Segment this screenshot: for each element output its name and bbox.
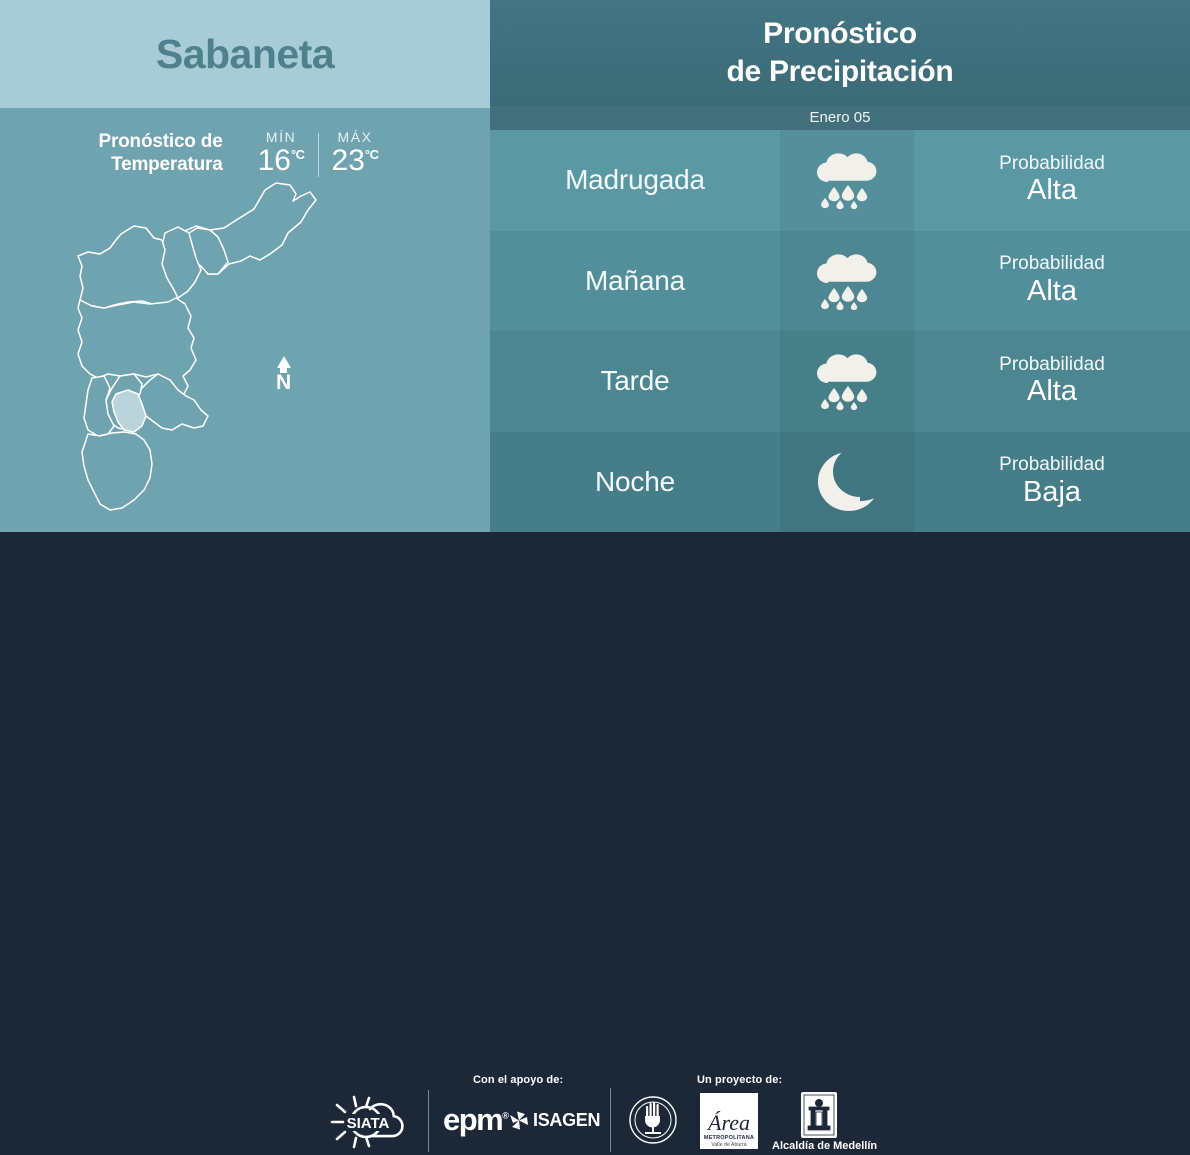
isagen-wordmark: ISAGEN bbox=[533, 1110, 600, 1131]
period-label: Madrugada bbox=[565, 164, 705, 196]
north-label: N bbox=[276, 372, 291, 393]
isagen-logo: ISAGEN bbox=[508, 1110, 600, 1131]
footer-divider-2 bbox=[610, 1088, 611, 1152]
weather-forecast-infographic: Sabaneta Pronóstico de Temperatura MÍN 1… bbox=[0, 0, 1190, 620]
rain-cloud-icon bbox=[808, 146, 886, 214]
temperature-summary: Pronóstico de Temperatura MÍN 16°C MÁX 2… bbox=[0, 122, 490, 184]
min-label: MÍN bbox=[258, 129, 305, 145]
footer: Con el apoyo de: Un proyecto de: SIATA bbox=[0, 532, 1190, 620]
temperature-title-line2: Temperatura bbox=[98, 153, 222, 176]
city-name-band: Sabaneta bbox=[0, 0, 490, 108]
probability-value: Alta bbox=[1027, 275, 1077, 307]
footer-divider-1 bbox=[428, 1090, 429, 1152]
probability-value: Baja bbox=[1023, 476, 1081, 508]
table-row: Madrugada bbox=[490, 130, 1190, 231]
temperature-title-line1: Pronóstico de bbox=[98, 130, 222, 153]
probability-label: Probabilidad bbox=[999, 154, 1105, 175]
period-cell: Noche bbox=[490, 432, 780, 533]
period-label: Tarde bbox=[600, 365, 669, 397]
probability-value: Alta bbox=[1027, 375, 1077, 407]
table-row: Mañana bbox=[490, 231, 1190, 332]
probability-value: Alta bbox=[1027, 174, 1077, 206]
forecast-rows: Madrugada bbox=[490, 130, 1190, 532]
map-region-caldas bbox=[82, 432, 152, 510]
map-region-envigado bbox=[134, 374, 208, 430]
period-cell: Madrugada bbox=[490, 130, 780, 231]
weather-icon-cell bbox=[780, 432, 914, 533]
weather-icon-cell bbox=[780, 130, 914, 231]
alcaldia-shield-icon bbox=[801, 1092, 837, 1138]
period-cell: Mañana bbox=[490, 231, 780, 332]
probability-label: Probabilidad bbox=[999, 254, 1105, 275]
precipitation-header: Pronóstico de Precipitación bbox=[490, 0, 1190, 106]
epm-logo: epm® bbox=[443, 1104, 507, 1135]
precipitation-title-line2: de Precipitación bbox=[727, 53, 954, 91]
support-caption: Con el apoyo de: bbox=[473, 1074, 563, 1086]
rain-cloud-icon bbox=[808, 347, 886, 415]
max-label: MÁX bbox=[332, 129, 379, 145]
page-title: Sabaneta bbox=[156, 31, 334, 78]
area-script-wordmark: Área bbox=[708, 1112, 750, 1134]
max-value: 23°C bbox=[332, 145, 379, 177]
alcaldia-crest-icon bbox=[801, 1092, 837, 1138]
valle-de-aburra-map-svg bbox=[58, 178, 328, 523]
epm-wordmark: epm® bbox=[443, 1104, 507, 1135]
area-metropolitana-logo: Área METROPOLITANA Valle de Aburrá bbox=[700, 1093, 758, 1149]
temperature-values: MÍN 16°C MÁX 23°C bbox=[245, 129, 392, 177]
probability-cell: Probabilidad Alta bbox=[914, 231, 1190, 332]
table-row: Tarde bbox=[490, 331, 1190, 432]
universidad-nacional-seal-icon bbox=[628, 1094, 678, 1146]
siata-logo: SIATA bbox=[330, 1094, 426, 1155]
isagen-pinwheel-icon bbox=[508, 1111, 530, 1130]
area-metropolitana-line: METROPOLITANA bbox=[704, 1135, 754, 1142]
crescent-moon-icon bbox=[816, 449, 878, 515]
municipality-map: N bbox=[0, 178, 490, 532]
probability-cell: Probabilidad Alta bbox=[914, 331, 1190, 432]
table-row: Noche Probabilidad Baja bbox=[490, 432, 1190, 533]
min-unit: °C bbox=[291, 147, 305, 162]
precipitation-title: Pronóstico de Precipitación bbox=[727, 15, 954, 91]
probability-cell: Probabilidad Alta bbox=[914, 130, 1190, 231]
alcaldia-label: Alcaldía de Medellín bbox=[772, 1140, 877, 1152]
siata-wordmark: SIATA bbox=[347, 1115, 390, 1132]
precipitation-title-line1: Pronóstico bbox=[727, 15, 954, 53]
right-panel: Pronóstico de Precipitación Enero 05 Mad… bbox=[490, 0, 1190, 532]
area-valle-line: Valle de Aburrá bbox=[711, 1142, 746, 1148]
min-value: 16°C bbox=[258, 145, 305, 177]
universidad-nacional-logo bbox=[628, 1094, 678, 1151]
probability-label: Probabilidad bbox=[999, 455, 1105, 476]
rain-cloud-icon bbox=[808, 247, 886, 315]
left-panel: Sabaneta Pronóstico de Temperatura MÍN 1… bbox=[0, 0, 490, 532]
temperature-max: MÁX 23°C bbox=[319, 129, 392, 177]
probability-cell: Probabilidad Baja bbox=[914, 432, 1190, 533]
epm-registered-mark: ® bbox=[502, 1111, 507, 1121]
north-arrow: N bbox=[276, 356, 291, 393]
temperature-section: Pronóstico de Temperatura MÍN 16°C MÁX 2… bbox=[0, 108, 490, 532]
temperature-title: Pronóstico de Temperatura bbox=[98, 130, 222, 176]
temperature-min: MÍN 16°C bbox=[245, 129, 318, 177]
max-unit: °C bbox=[365, 147, 379, 162]
period-cell: Tarde bbox=[490, 331, 780, 432]
period-label: Mañana bbox=[585, 265, 685, 297]
period-label: Noche bbox=[595, 466, 675, 498]
weather-icon-cell bbox=[780, 231, 914, 332]
forecast-date: Enero 05 bbox=[490, 106, 1190, 130]
probability-label: Probabilidad bbox=[999, 355, 1105, 376]
temperature-divider bbox=[318, 133, 319, 177]
weather-icon-cell bbox=[780, 331, 914, 432]
project-caption: Un proyecto de: bbox=[697, 1074, 782, 1086]
siata-sun-cloud-icon: SIATA bbox=[330, 1094, 426, 1150]
north-arrow-icon bbox=[277, 356, 291, 368]
